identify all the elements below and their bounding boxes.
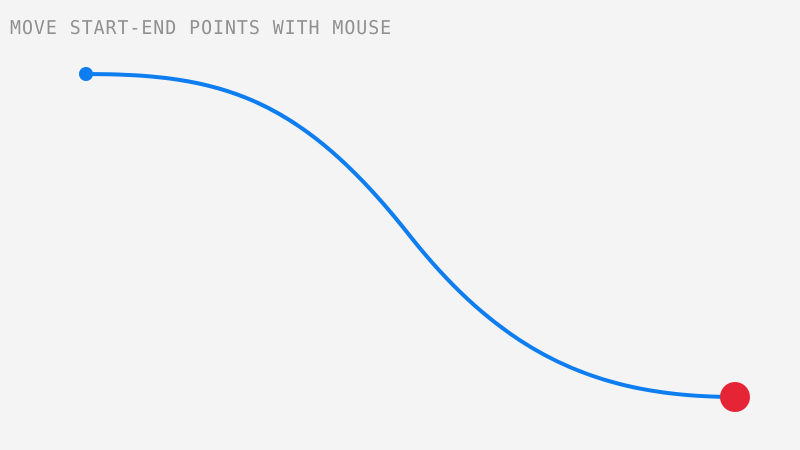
start-point-handle[interactable] [79, 67, 93, 81]
end-point-handle[interactable] [720, 382, 750, 412]
bezier-editor-canvas[interactable]: MOVE START-END POINTS WITH MOUSE [0, 0, 800, 450]
curve-svg [0, 0, 800, 450]
bezier-curve-path [86, 74, 735, 397]
curve-surface[interactable] [0, 0, 800, 450]
